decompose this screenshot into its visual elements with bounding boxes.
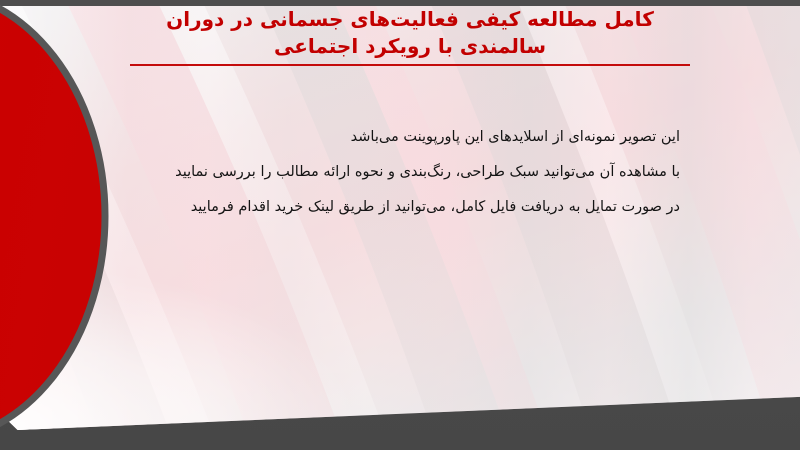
slide-title: کامل مطالعه کیفی فعالیت‌های جسمانی در دو… bbox=[110, 6, 710, 66]
presentation-slide: کامل مطالعه کیفی فعالیت‌های جسمانی در دو… bbox=[0, 0, 800, 450]
title-divider-rule bbox=[130, 64, 690, 66]
title-line-1: کامل مطالعه کیفی فعالیت‌های جسمانی در دو… bbox=[110, 6, 710, 33]
body-line-2: با مشاهده آن می‌توانید سبک طراحی، رنگ‌بن… bbox=[120, 155, 680, 190]
title-line-2: سالمندی با رویکرد اجتماعی bbox=[110, 33, 710, 60]
slide-body-text: این تصویر نمونه‌ای از اسلایدهای این پاور… bbox=[120, 120, 680, 225]
background-bottom-left-fade bbox=[0, 220, 420, 430]
body-line-3: در صورت تمایل به دریافت فایل کامل، می‌تو… bbox=[120, 190, 680, 225]
body-line-1: این تصویر نمونه‌ای از اسلایدهای این پاور… bbox=[120, 120, 680, 155]
